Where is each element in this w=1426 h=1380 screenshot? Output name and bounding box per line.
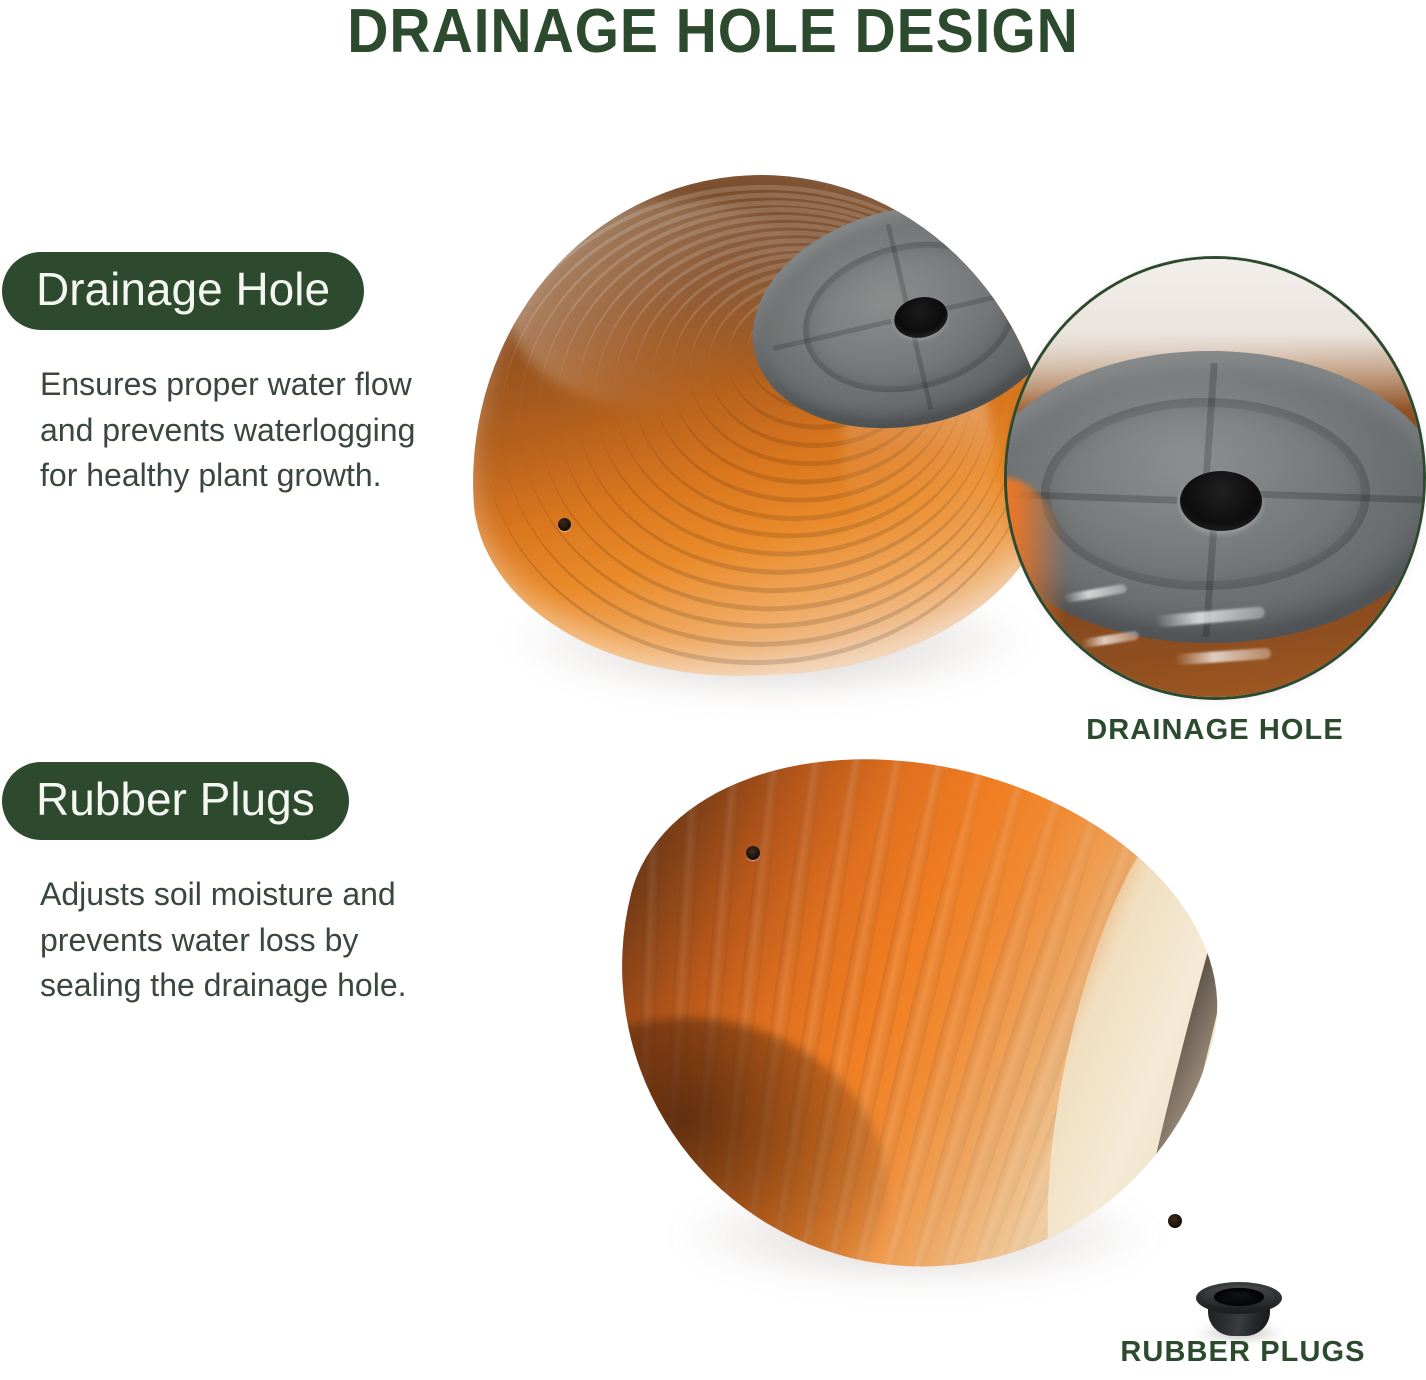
planter-base-plate xyxy=(730,176,1062,458)
top-planter-rib xyxy=(548,204,1011,604)
rubber-plug-flange xyxy=(1196,1282,1282,1314)
callout-label-drainage-hole: DRAINAGE HOLE xyxy=(1004,714,1426,747)
bottom-planter-rib xyxy=(1030,815,1262,1330)
top-planter-photo xyxy=(470,175,1050,705)
inset-ceramic-background xyxy=(1004,256,1426,700)
top-planter-rib xyxy=(783,303,891,378)
top-planter-rib xyxy=(685,262,941,473)
rubber-plug-lip xyxy=(1203,1285,1275,1309)
bottom-planter-rim-interior xyxy=(1109,819,1262,1330)
inset-glaze-streak-4 xyxy=(1081,631,1140,649)
inset-orange-rim-edge xyxy=(1004,477,1067,677)
top-planter-rib xyxy=(744,287,911,417)
top-planter-rib xyxy=(607,229,981,548)
top-planter-rib xyxy=(509,187,1031,641)
top-planter-rib xyxy=(665,254,950,492)
top-planter-rib xyxy=(705,270,931,454)
top-planter-ribs xyxy=(457,160,1062,690)
bottom-planter-rib xyxy=(632,700,668,1230)
rubber-plug-body xyxy=(1208,1294,1270,1336)
bottom-planter-rib xyxy=(737,705,832,1262)
inset-upper-highlight xyxy=(1004,256,1426,409)
inset-glaze-streak-1 xyxy=(1155,606,1266,628)
top-planter-rib xyxy=(587,220,991,566)
inset-plate-spoke-right xyxy=(1243,490,1426,504)
bottom-planter-photo xyxy=(610,765,1250,1295)
top-planter-rib xyxy=(528,196,1020,623)
base-plate-spoke-top xyxy=(886,224,910,309)
top-planter-rib xyxy=(763,295,900,397)
top-planter-shadow xyxy=(510,575,1030,705)
bottom-planter-rib xyxy=(711,700,791,1255)
page-title: DRAINAGE HOLE DESIGN xyxy=(57,0,1369,67)
bottom-planter-rib xyxy=(949,783,1159,1319)
top-planter-rib xyxy=(646,245,961,510)
base-plate-inner-ring xyxy=(788,221,1032,413)
feature-pill-drainage-hole: Drainage Hole xyxy=(2,252,364,330)
bottom-planter-rib xyxy=(790,724,915,1278)
inset-base-plate-ring xyxy=(1041,398,1370,591)
bottom-planter-drain-hole-lower xyxy=(1168,1214,1182,1228)
top-planter-rib xyxy=(724,278,921,435)
inset-base-plate xyxy=(1004,351,1426,643)
inset-drainage-hole xyxy=(1180,471,1262,531)
base-plate-spoke-bottom xyxy=(911,333,933,410)
top-planter-rib xyxy=(469,171,1050,679)
feature-pill-rubber-plugs: Rubber Plugs xyxy=(2,762,349,840)
bottom-planter-shaded-area xyxy=(558,979,921,1330)
bottom-planter-ribs xyxy=(558,700,1261,1330)
callout-label-rubber-plugs: RUBBER PLUGS xyxy=(1060,1336,1426,1369)
top-planter-gloss-highlight-secondary xyxy=(836,323,1000,581)
rubber-plug-photo xyxy=(1196,1278,1288,1344)
drainage-hole-opening xyxy=(890,292,952,343)
bottom-planter-shadow xyxy=(680,1180,1150,1290)
bottom-planter-rib xyxy=(816,733,955,1285)
feature-block-rubber-plugs: Rubber Plugs Adjusts soil moisture and p… xyxy=(0,762,420,1009)
inset-plate-spoke-left xyxy=(1004,490,1177,504)
top-planter-body xyxy=(457,160,1062,690)
bottom-planter-rib xyxy=(658,700,708,1239)
bottom-planter-drain-hole-upper xyxy=(746,846,760,860)
feature-description-drainage-hole: Ensures proper water flow and prevents w… xyxy=(40,362,420,498)
inset-plate-spoke-top xyxy=(1202,363,1218,486)
top-planter-side-drain-hole xyxy=(558,518,571,531)
bottom-planter-rib xyxy=(685,700,750,1247)
inset-glaze-streak-3 xyxy=(1063,584,1128,604)
rubber-plug-shadow xyxy=(1194,1324,1286,1342)
bottom-planter-rib xyxy=(843,743,997,1292)
drainage-hole-magnifier-inset xyxy=(1004,256,1426,700)
bottom-planter-rim xyxy=(1010,793,1261,1331)
inset-plate-spoke-bottom xyxy=(1203,526,1218,637)
top-planter-rib xyxy=(567,212,1000,585)
bottom-planter-rib xyxy=(896,763,1078,1306)
base-plate-spoke-left xyxy=(773,319,892,351)
feature-block-drainage-hole: Drainage Hole Ensures proper water flow … xyxy=(0,252,420,499)
feature-description-rubber-plugs: Adjusts soil moisture and prevents water… xyxy=(40,872,420,1008)
product-imagery-stage: DRAINAGE HOLE RUBBER PLUGS xyxy=(0,0,1426,1380)
top-planter-rib xyxy=(626,237,971,529)
bottom-planter-rib xyxy=(922,773,1118,1312)
inset-glaze-streak-2 xyxy=(1175,648,1272,666)
bottom-planter-rib xyxy=(1003,804,1241,1330)
bottom-planter-rib xyxy=(976,794,1200,1325)
bottom-planter-rib xyxy=(764,714,874,1270)
top-planter-rib xyxy=(489,179,1041,660)
bottom-planter-body xyxy=(558,700,1261,1330)
base-plate-spoke-right xyxy=(928,283,1047,315)
bottom-planter-rib xyxy=(869,753,1037,1299)
top-planter-gloss-highlight xyxy=(505,192,829,418)
rubber-plug-bore xyxy=(1214,1288,1264,1306)
